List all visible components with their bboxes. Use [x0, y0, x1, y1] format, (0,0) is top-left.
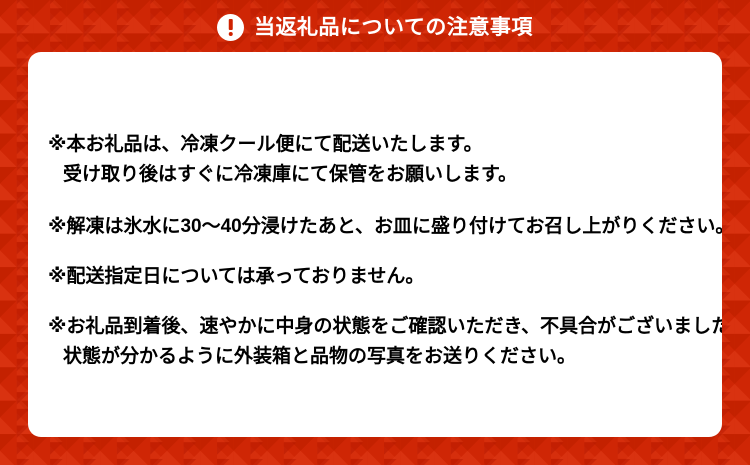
notice-line: ※解凍は氷水に30〜40分浸けたあと、お皿に盛り付けてお召し上がりください。	[48, 212, 708, 242]
exclamation-dot	[228, 32, 233, 37]
notice-item: ※お礼品到着後、速やかに中身の状態をご確認いただき、不具合がございましたら 状態…	[48, 312, 708, 372]
banner-header: 当返礼品についての注意事項	[0, 0, 750, 52]
notice-card: ※本お礼品は、冷凍クール便にて配送いたします。 受け取り後はすぐに冷凍庫にて保管…	[28, 52, 722, 437]
exclamation-circle-icon	[217, 14, 244, 41]
notice-line: ※配送指定日については承っておりません。	[48, 262, 708, 292]
notice-line: ※本お礼品は、冷凍クール便にて配送いたします。	[48, 130, 708, 160]
notice-line: ※お礼品到着後、速やかに中身の状態をご確認いただき、不具合がございましたら	[48, 312, 708, 342]
notice-line: 状態が分かるように外装箱と品物の写真をお送りください。	[48, 342, 708, 372]
exclamation-stem	[228, 19, 233, 30]
notice-banner: 当返礼品についての注意事項 ※本お礼品は、冷凍クール便にて配送いたします。 受け…	[0, 0, 750, 465]
notice-line: 受け取り後はすぐに冷凍庫にて保管をお願いします。	[48, 160, 708, 190]
notice-list: ※本お礼品は、冷凍クール便にて配送いたします。 受け取り後はすぐに冷凍庫にて保管…	[48, 130, 708, 372]
page-title: 当返礼品についての注意事項	[254, 17, 533, 38]
notice-item: ※解凍は氷水に30〜40分浸けたあと、お皿に盛り付けてお召し上がりください。	[48, 212, 708, 242]
notice-item: ※配送指定日については承っておりません。	[48, 262, 708, 292]
notice-item: ※本お礼品は、冷凍クール便にて配送いたします。 受け取り後はすぐに冷凍庫にて保管…	[48, 130, 708, 190]
